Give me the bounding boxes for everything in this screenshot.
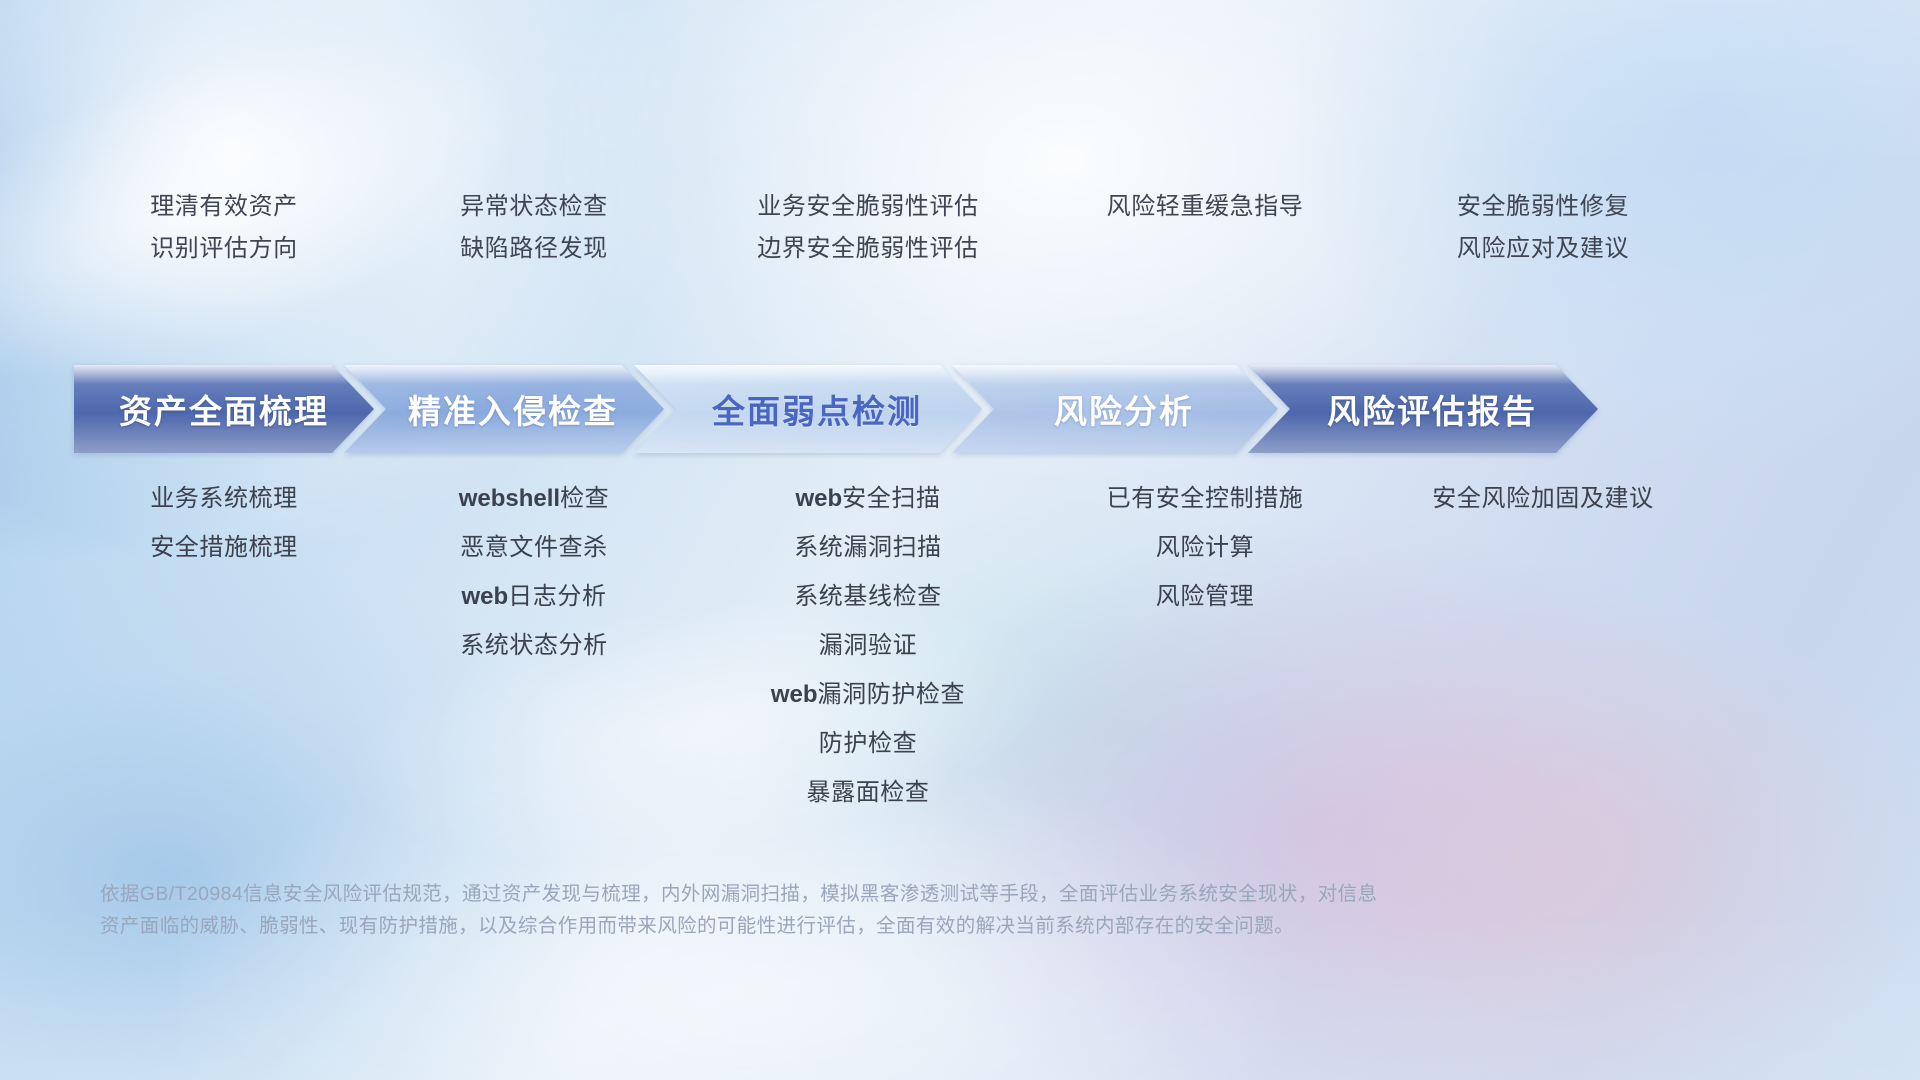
top-item-risk-analysis-2	[1042, 232, 1368, 266]
detail-item-risk-analysis-1: 已有安全控制措施	[1042, 474, 1368, 523]
detail-list-risk-report: 安全风险加固及建议	[1368, 474, 1718, 523]
detail-item-weakness-detection-1: web安全扫描	[694, 474, 1042, 523]
stage-label-weakness-detection: 全面弱点检测	[694, 385, 922, 433]
detail-item-asset-inventory-2: 安全措施梳理	[74, 523, 374, 572]
footer-description: 依据GB/T20984信息安全风险评估规范，通过资产发现与梳理，内外网漏洞扫描，…	[100, 878, 1660, 942]
top-item-weakness-detection-1: 业务安全脆弱性评估	[694, 190, 1042, 224]
top-item-asset-inventory-2: 识别评估方向	[74, 232, 374, 266]
detail-item-weakness-detection-7: 暴露面检查	[694, 768, 1042, 817]
top-item-risk-analysis-1: 风险轻重缓急指导	[1042, 190, 1368, 224]
detail-item-risk-report-1: 安全风险加固及建议	[1368, 474, 1718, 523]
detail-list-asset-inventory: 业务系统梳理安全措施梳理	[74, 474, 374, 572]
detail-item-weakness-detection-4: 漏洞验证	[694, 621, 1042, 670]
top-item-intrusion-check-1: 异常状态检查	[374, 190, 694, 224]
latin-prefix: web	[795, 485, 842, 512]
latin-prefix: webshell	[459, 485, 560, 512]
detail-item-weakness-detection-5: web漏洞防护检查	[694, 670, 1042, 719]
stage-label-intrusion-check: 精准入侵检查	[390, 385, 618, 433]
detail-list-risk-analysis: 已有安全控制措施风险计算风险管理	[1042, 474, 1368, 621]
top-descriptor-row-2: 识别评估方向 缺陷路径发现 边界安全脆弱性评估 风险应对及建议	[0, 232, 1920, 266]
detail-list-intrusion-check: webshell检查恶意文件查杀web日志分析系统状态分析	[374, 474, 694, 670]
top-item-risk-report-1: 安全脆弱性修复	[1368, 190, 1718, 224]
stage-chevron-risk-analysis[interactable]: 风险分析	[952, 365, 1278, 453]
detail-item-intrusion-check-3: web日志分析	[374, 572, 694, 621]
detail-item-intrusion-check-1: webshell检查	[374, 474, 694, 523]
stage-label-risk-analysis: 风险分析	[1036, 385, 1194, 433]
detail-item-intrusion-check-2: 恶意文件查杀	[374, 523, 694, 572]
top-item-intrusion-check-2: 缺陷路径发现	[374, 232, 694, 266]
footer-line-2: 资产面临的威胁、脆弱性、现有防护措施，以及综合作用而带来风险的可能性进行评估，全…	[100, 910, 1660, 942]
stage-label-asset-inventory: 资产全面梳理	[119, 385, 329, 433]
latin-prefix: web	[461, 583, 508, 610]
process-stage-banner: 资产全面梳理 精准入侵检查 全面弱点检测 风险分析 风险评估报告	[74, 365, 1846, 453]
stage-chevron-intrusion-check[interactable]: 精准入侵检查	[344, 365, 664, 453]
process-diagram: 理清有效资产 异常状态检查 业务安全脆弱性评估 风险轻重缓急指导 安全脆弱性修复…	[0, 0, 1920, 1080]
detail-item-risk-analysis-3: 风险管理	[1042, 572, 1368, 621]
top-descriptor-row-1: 理清有效资产 异常状态检查 业务安全脆弱性评估 风险轻重缓急指导 安全脆弱性修复	[0, 190, 1920, 224]
detail-item-asset-inventory-1: 业务系统梳理	[74, 474, 374, 523]
detail-item-weakness-detection-6: 防护检查	[694, 719, 1042, 768]
stage-label-risk-report: 风险评估报告	[1309, 385, 1537, 433]
stage-chevron-risk-report[interactable]: 风险评估报告	[1248, 365, 1598, 453]
detail-item-intrusion-check-4: 系统状态分析	[374, 621, 694, 670]
detail-item-weakness-detection-2: 系统漏洞扫描	[694, 523, 1042, 572]
detail-item-risk-analysis-2: 风险计算	[1042, 523, 1368, 572]
top-item-asset-inventory-1: 理清有效资产	[74, 190, 374, 224]
top-item-risk-report-2: 风险应对及建议	[1368, 232, 1718, 266]
latin-prefix: web	[771, 681, 818, 708]
detail-item-weakness-detection-3: 系统基线检查	[694, 572, 1042, 621]
top-item-weakness-detection-2: 边界安全脆弱性评估	[694, 232, 1042, 266]
footer-line-1: 依据GB/T20984信息安全风险评估规范，通过资产发现与梳理，内外网漏洞扫描，…	[100, 878, 1660, 910]
stage-detail-lists: 业务系统梳理安全措施梳理 webshell检查恶意文件查杀web日志分析系统状态…	[0, 474, 1920, 817]
stage-chevron-weakness-detection[interactable]: 全面弱点检测	[634, 365, 982, 453]
stage-chevron-asset-inventory[interactable]: 资产全面梳理	[74, 365, 374, 453]
detail-list-weakness-detection: web安全扫描系统漏洞扫描系统基线检查漏洞验证web漏洞防护检查防护检查暴露面检…	[694, 474, 1042, 817]
